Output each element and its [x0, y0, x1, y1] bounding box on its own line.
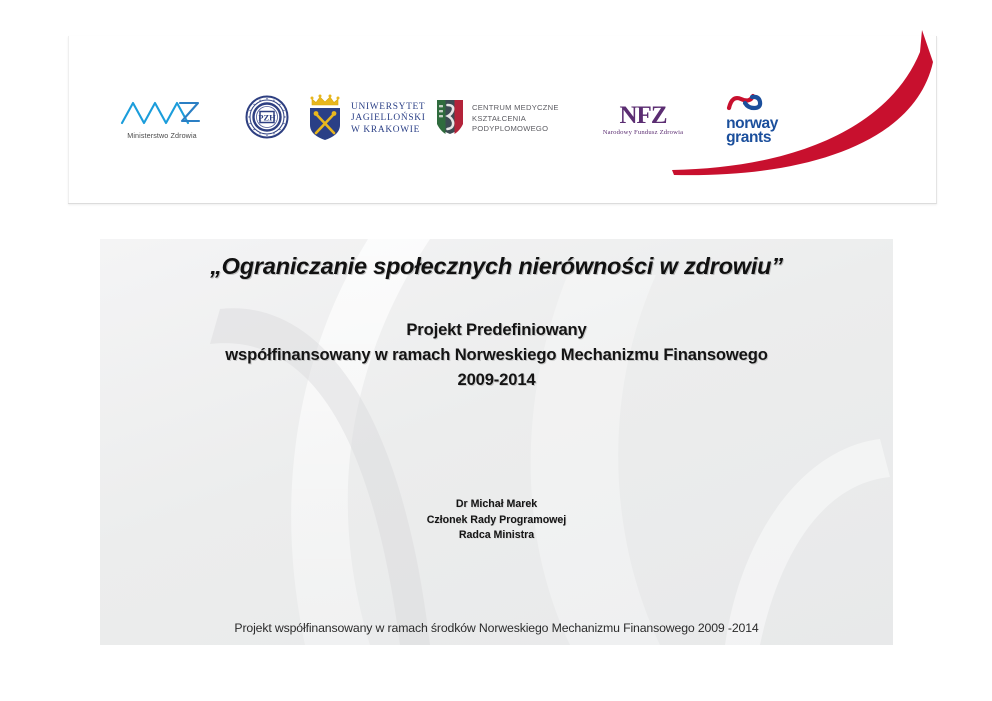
author-role: Członek Rady Programowej	[100, 513, 893, 529]
slide-footer-note: Projekt współfinansowany w ramach środkó…	[100, 621, 893, 635]
presentation-slide: Ministerstwo Zdrowia PZH	[0, 0, 992, 701]
subtitle-line-1: Projekt Predefiniowany	[100, 317, 893, 342]
slide-title: „Ograniczanie społecznych nierówności w …	[100, 253, 893, 280]
uj-line-3: W KRAKOWIE	[351, 125, 426, 137]
nfz-wordmark-icon: NFZ	[620, 103, 667, 128]
partner-logo-row: Ministerstwo Zdrowia PZH	[120, 86, 880, 152]
cmkp-line-1: CENTRUM MEDYCZNE	[472, 103, 559, 114]
logo-uniwersytet-jagiellonski: UNIWERSYTET JAGIELLOŃSKI W KRAKOWIE	[306, 90, 436, 148]
logo-caption-nfz: Narodowy Fundusz Zdrowia	[603, 129, 684, 136]
author-title: Radca Ministra	[100, 528, 893, 544]
cmkp-shield-icon	[436, 99, 464, 140]
subtitle-line-2: współfinansowany w ramach Norweskiego Me…	[100, 342, 893, 367]
logo-norway-grants: norway grants	[702, 90, 802, 148]
author-block: Dr Michał Marek Członek Rady Programowej…	[100, 497, 893, 544]
slide-content: „Ograniczanie społecznych nierówności w …	[100, 239, 893, 645]
logo-ministerstwo-zdrowia: Ministerstwo Zdrowia	[120, 90, 228, 148]
subtitle-line-3: 2009-2014	[100, 367, 893, 392]
cmkp-line-2: KSZTAŁCENIA	[472, 114, 559, 125]
logo-text-uj: UNIWERSYTET JAGIELLOŃSKI W KRAKOWIE	[351, 102, 426, 137]
slide-body-panel: „Ograniczanie społecznych nierówności w …	[100, 239, 893, 645]
logo-nfz: NFZ Narodowy Fundusz Zdrowia	[584, 90, 702, 148]
cmkp-line-3: PODYPLOMOWEGO	[472, 124, 559, 135]
norway-grants-ribbon-icon	[726, 93, 766, 117]
uj-line-1: UNIWERSYTET	[351, 102, 426, 114]
norway-grants-line-2: grants	[726, 131, 771, 146]
uj-line-2: JAGIELLOŃSKI	[351, 113, 426, 125]
mz-zigzag-icon	[120, 99, 204, 130]
logo-cmkp: CENTRUM MEDYCZNE KSZTAŁCENIA PODYPLOMOWE…	[436, 90, 584, 148]
pzh-seal-icon: PZH	[245, 95, 289, 144]
header-logo-bar: Ministerstwo Zdrowia PZH	[68, 36, 937, 204]
svg-text:PZH: PZH	[258, 112, 276, 122]
logo-pzh: PZH	[228, 90, 306, 148]
logo-caption-ministerstwo-zdrowia: Ministerstwo Zdrowia	[127, 131, 197, 140]
slide-subtitle: Projekt Predefiniowany współfinansowany …	[100, 317, 893, 392]
logo-text-cmkp: CENTRUM MEDYCZNE KSZTAŁCENIA PODYPLOMOWE…	[472, 103, 559, 135]
uj-shield-icon	[306, 92, 344, 147]
author-name: Dr Michał Marek	[100, 497, 893, 513]
